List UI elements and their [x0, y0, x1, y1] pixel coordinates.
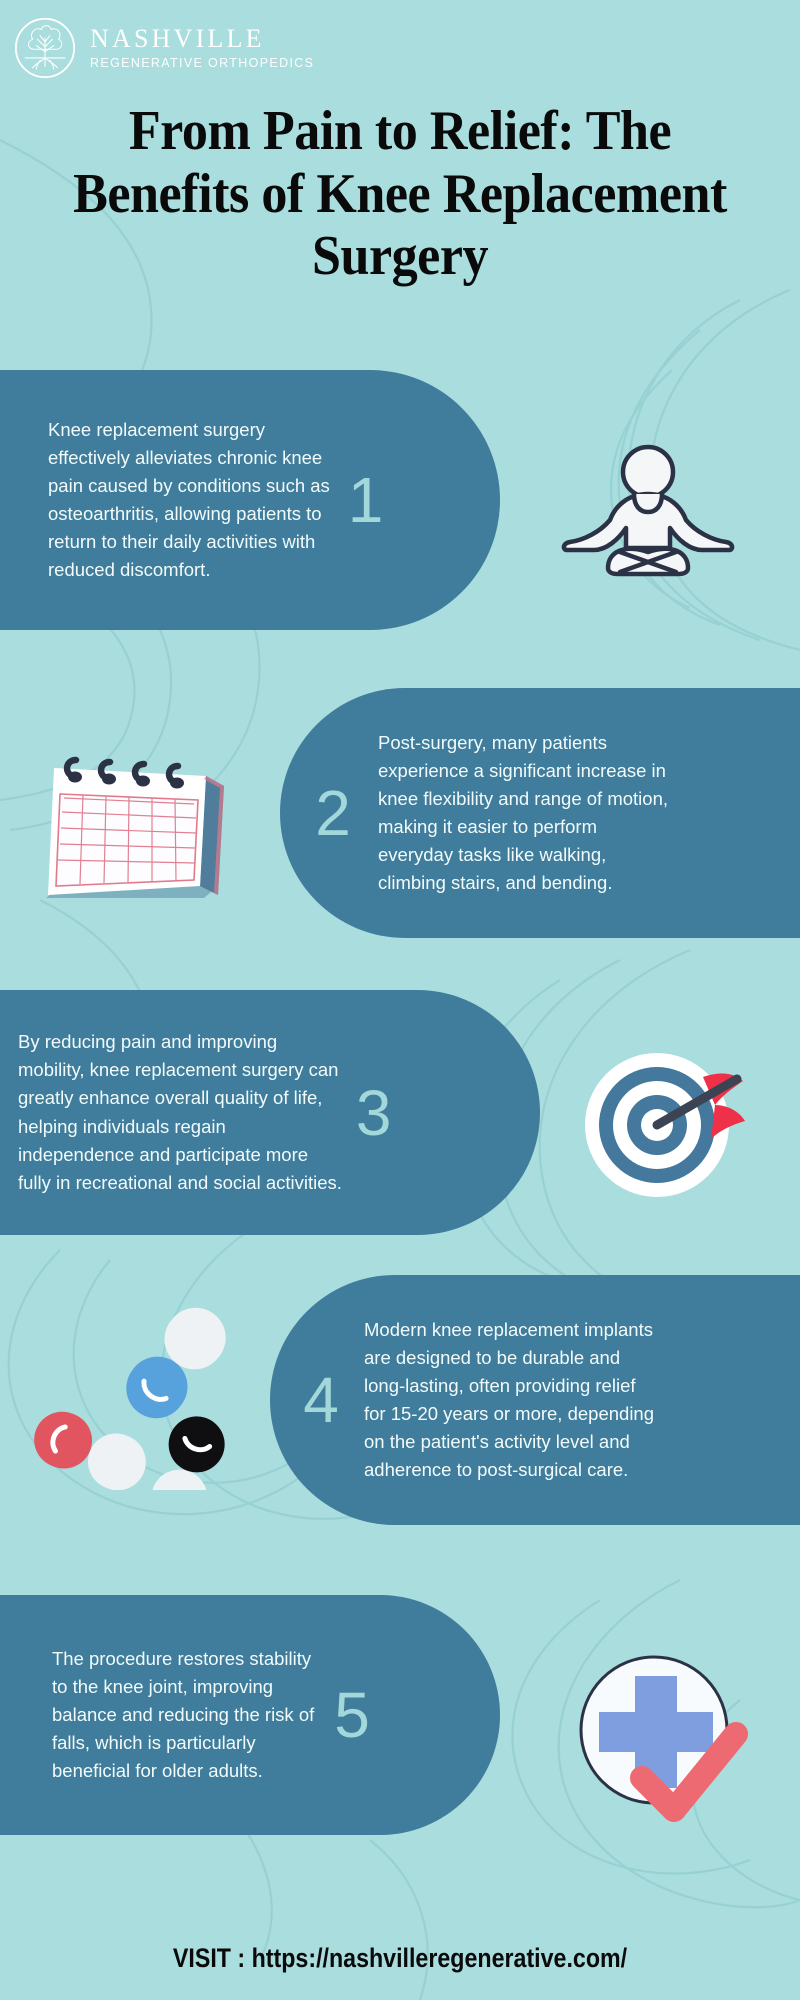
page-title: From Pain to Relief: The Benefits of Kne… — [28, 82, 772, 288]
brand-tagline: REGENERATIVE ORTHOPEDICS — [90, 57, 314, 70]
benefit-card-3: By reducing pain and improving mobility,… — [0, 990, 540, 1235]
meditating-person-icon — [548, 440, 748, 580]
benefit-number-4: 4 — [294, 1368, 348, 1432]
benefit-card-2: 2 Post-surgery, many patients experience… — [280, 688, 800, 938]
capsule-pills-icon — [28, 1285, 258, 1490]
brand-name: NASHVILLE — [90, 26, 314, 52]
benefit-number-3: 3 — [356, 1081, 392, 1145]
benefit-text-5: The procedure restores stability to the … — [52, 1645, 314, 1786]
benefit-number-1: 1 — [348, 468, 384, 532]
benefit-number-2: 2 — [306, 781, 360, 845]
infographic-page: NASHVILLE REGENERATIVE ORTHOPEDICS From … — [0, 0, 800, 2000]
benefit-card-1: Knee replacement surgery effectively all… — [0, 370, 500, 630]
benefit-text-1: Knee replacement surgery effectively all… — [48, 416, 330, 585]
benefit-text-4: Modern knee replacement implants are des… — [364, 1316, 654, 1485]
medical-cross-checkmark-icon — [568, 1638, 758, 1823]
desk-calendar-icon — [18, 690, 248, 920]
benefit-text-3: By reducing pain and improving mobility,… — [18, 1028, 342, 1197]
tree-in-circle-icon — [14, 17, 76, 79]
brand-header: NASHVILLE REGENERATIVE ORTHOPEDICS — [0, 0, 800, 82]
footer-visit-url[interactable]: VISIT : https://nashvilleregenerative.co… — [56, 1943, 744, 1974]
benefit-card-5: The procedure restores stability to the … — [0, 1595, 500, 1835]
benefit-number-5: 5 — [334, 1683, 370, 1747]
target-with-arrow-icon — [575, 1035, 755, 1205]
benefit-text-2: Post-surgery, many patients experience a… — [378, 729, 668, 898]
benefit-card-4: 4 Modern knee replacement implants are d… — [270, 1275, 800, 1525]
